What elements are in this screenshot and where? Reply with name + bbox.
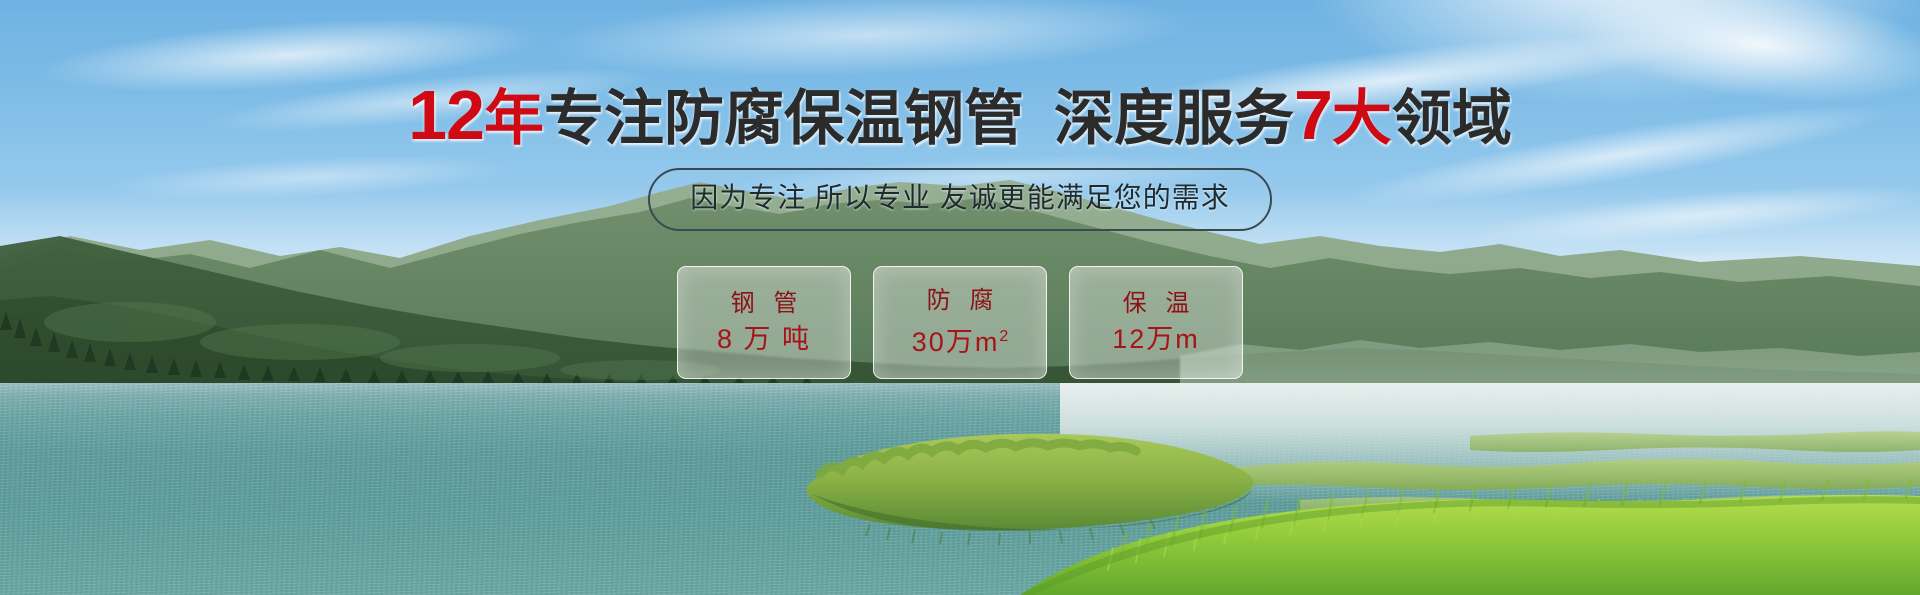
marsh-strip [1470, 431, 1920, 452]
subtitle-container: 因为专注 所以专业 友诚更能满足您的需求 [0, 168, 1920, 231]
headline-main-text: 专注防腐保温钢管 [544, 85, 1024, 152]
stat-card-value: 8 万 吨 [717, 324, 811, 355]
marsh-strip [1230, 459, 1920, 490]
grass-island [806, 434, 1254, 545]
stat-card-group: 钢 管 8 万 吨 防 腐 30万m2 保 温 12万m [0, 266, 1920, 379]
stat-card-value: 30万m2 [912, 321, 1008, 358]
headline-second-number: 7 [1294, 76, 1332, 154]
subtitle-pill: 因为专注 所以专业 友诚更能满足您的需求 [648, 168, 1272, 231]
stat-card-title: 钢 管 [725, 290, 804, 318]
stat-card-value: 12万m [1112, 324, 1200, 355]
headline-second-tail: 领域 [1392, 85, 1512, 152]
stat-value-text: 8 万 吨 [717, 324, 811, 354]
stat-card-title: 保 温 [1117, 290, 1196, 318]
headline: 12年专注防腐保温钢管深度服务7大领域 [0, 83, 1920, 151]
headline-number-suffix: 年 [484, 85, 544, 152]
headline-number: 12 [408, 76, 484, 154]
stat-card-anticorrosion[interactable]: 防 腐 30万m2 [873, 266, 1047, 379]
headline-second-lead: 深度服务 [1054, 85, 1294, 152]
promo-banner: 12年专注防腐保温钢管深度服务7大领域 因为专注 所以专业 友诚更能满足您的需求… [0, 0, 1920, 595]
headline-second-number-suffix: 大 [1332, 85, 1392, 152]
stat-value-text: 12万m [1112, 324, 1200, 354]
stat-card-steel-pipe[interactable]: 钢 管 8 万 吨 [677, 266, 851, 379]
stat-card-title: 防 腐 [921, 287, 1000, 315]
stat-value-superscript: 2 [999, 328, 1008, 345]
stat-card-insulation[interactable]: 保 温 12万m [1069, 266, 1243, 379]
stat-value-text: 30万m [912, 327, 1000, 357]
